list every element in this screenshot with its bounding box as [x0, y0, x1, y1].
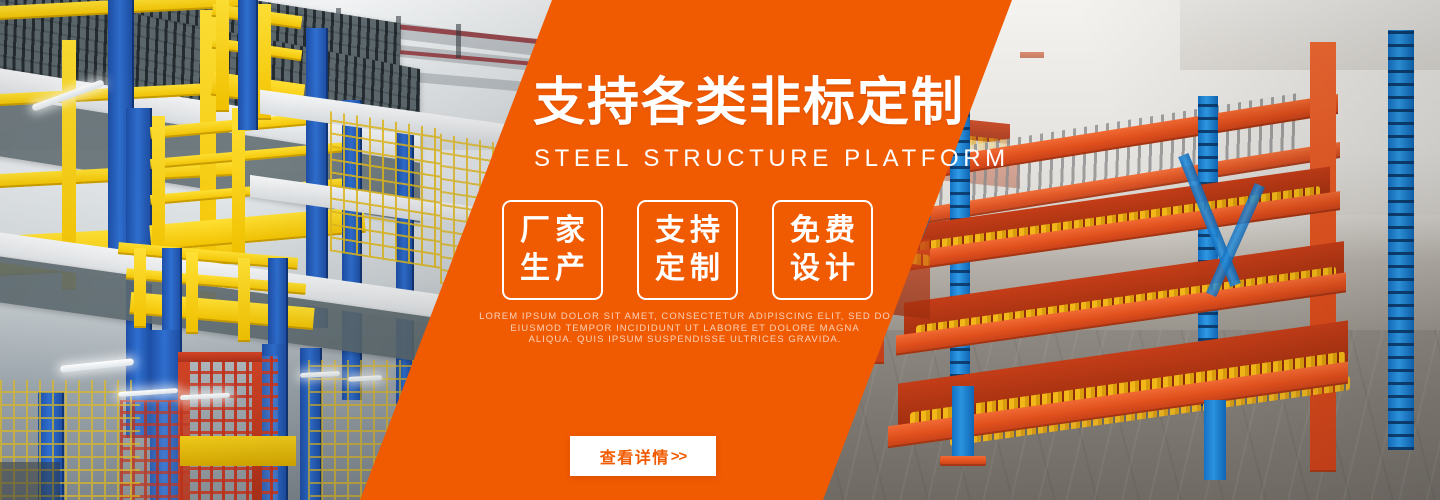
feature-box-line2: 设计 [785, 251, 860, 287]
feature-box-line1: 免费 [785, 213, 860, 249]
description-line-1: LOREM IPSUM DOLOR SIT AMET, CONSECTETUR … [430, 311, 940, 323]
description-line-2: EIUSMOD TEMPOR INCIDIDUNT UT LABORE ET D… [430, 323, 940, 335]
chevron-right-icon: >> [671, 448, 687, 465]
page-title: 支持各类非标定制 [533, 74, 965, 132]
promo-banner: 支持各类非标定制 STEEL STRUCTURE PLATFORM 厂家 生产 … [0, 0, 1440, 500]
description-line-3: ALIQUA. QUIS IPSUM SUSPENDISSE ULTRICES … [430, 334, 940, 346]
banner-content: 支持各类非标定制 STEEL STRUCTURE PLATFORM 厂家 生产 … [0, 0, 1440, 500]
subtitle: STEEL STRUCTURE PLATFORM [534, 145, 1010, 173]
feature-box-row: 厂家 生产 支持 定制 免费 设计 [502, 200, 873, 300]
feature-box-line2: 生产 [515, 251, 590, 287]
feature-box-line1: 厂家 [515, 213, 590, 249]
feature-box-manufacturer: 厂家 生产 [502, 200, 603, 300]
feature-box-free-design: 免费 设计 [772, 200, 873, 300]
view-details-label: 查看详情 [600, 444, 670, 468]
feature-box-customization: 支持 定制 [637, 200, 738, 300]
feature-box-line1: 支持 [650, 213, 725, 249]
view-details-button[interactable]: 查看详情 >> [570, 436, 716, 476]
feature-box-line2: 定制 [650, 251, 725, 287]
description-text: LOREM IPSUM DOLOR SIT AMET, CONSECTETUR … [430, 311, 940, 346]
